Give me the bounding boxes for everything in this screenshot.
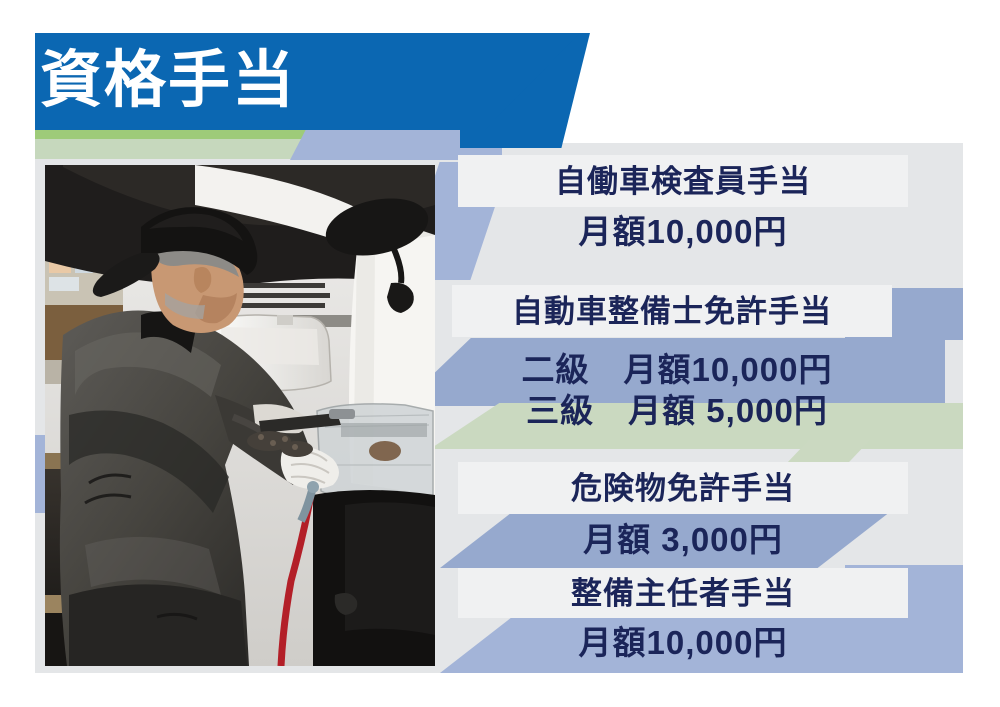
slide-canvas: 資格手当 <box>0 0 1000 707</box>
allowance-label-hazardous-materials: 危険物免許手当 <box>458 462 908 514</box>
allowance-label-inspector: 自働車検査員手当 <box>458 155 908 207</box>
mechanic-photo <box>45 165 435 666</box>
allowance-label-text: 危険物免許手当 <box>571 473 795 504</box>
allowance-amount-text-grade3: 三級 月額 5,000円 <box>526 390 828 431</box>
allowance-amount-text: 月額10,000円 <box>579 625 788 662</box>
allowance-amount-hazardous-materials: 月額 3,000円 <box>458 515 908 565</box>
page-title: 資格手当 <box>40 29 460 133</box>
allowance-label-mechanic-license: 自動車整備士免許手当 <box>452 285 892 337</box>
allowance-amount-inspector: 月額10,000円 <box>458 208 908 256</box>
mechanic-working-on-car-engine-photo <box>45 165 435 666</box>
allowance-amount-text: 月額 3,000円 <box>583 522 783 559</box>
allowance-amount-mechanic-license: 二級 月額10,000円 三級 月額 5,000円 <box>452 340 902 440</box>
allowance-label-text: 自働車検査員手当 <box>555 166 811 197</box>
allowance-amount-text: 月額10,000円 <box>579 214 788 251</box>
allowance-label-chief-mechanic: 整備主任者手当 <box>458 568 908 618</box>
allowance-label-text: 自動車整備士免許手当 <box>512 296 832 327</box>
allowance-amount-text-grade2: 二級 月額10,000円 <box>522 349 833 390</box>
allowance-amount-chief-mechanic: 月額10,000円 <box>458 618 908 668</box>
allowance-label-text: 整備主任者手当 <box>571 578 795 609</box>
